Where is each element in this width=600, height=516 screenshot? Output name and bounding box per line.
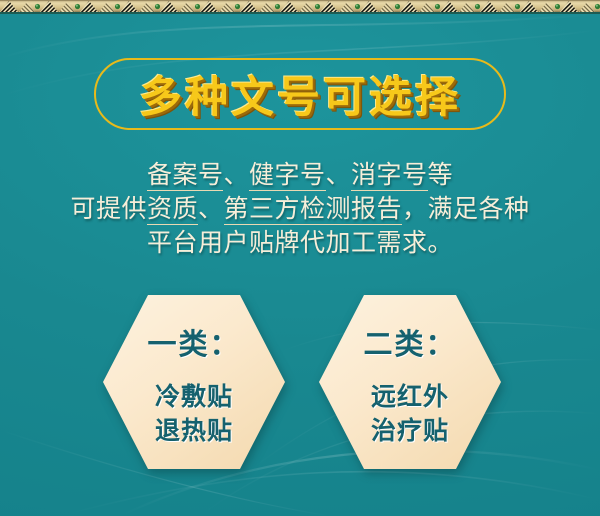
category-hexagon-one: 一类： 冷敷贴 退热贴: [102, 293, 286, 471]
ornamental-top-border: [0, 0, 600, 14]
page-title: 多种文号可选择: [96, 63, 504, 125]
plain-text: 、: [223, 160, 249, 189]
category-two-item-2: 治疗贴: [318, 411, 502, 447]
category-one-item-2: 退热贴: [102, 411, 286, 447]
description-line: 备案号、健字号、消字号等: [30, 158, 570, 192]
category-one-title: 一类：: [102, 321, 286, 363]
plain-text: 可提供: [70, 194, 147, 223]
plain-text: ，满足各种: [402, 194, 530, 223]
description-line: 可提供资质、第三方检测报告，满足各种: [30, 192, 570, 226]
headline-frame: 多种文号可选择: [94, 58, 506, 130]
highlighted-term: 备案号: [147, 160, 224, 191]
border-underline: [0, 12, 600, 14]
highlighted-term: 健字号: [249, 160, 326, 191]
plain-text: 等: [428, 160, 454, 189]
category-hexagon-two: 二类： 远红外 治疗贴: [318, 293, 502, 471]
promo-poster: 多种文号可选择 备案号、健字号、消字号等可提供资质、第三方检测报告，满足各种平台…: [0, 0, 600, 516]
highlighted-term: 资质: [147, 194, 198, 225]
highlighted-term: 消字号: [351, 160, 428, 191]
highlighted-term: 第三方检测报告: [224, 194, 403, 225]
plain-text: 平台用户贴牌代加工需求。: [147, 228, 453, 257]
description-paragraph: 备案号、健字号、消字号等可提供资质、第三方检测报告，满足各种平台用户贴牌代加工需…: [30, 158, 570, 260]
category-two-title: 二类：: [318, 321, 502, 363]
plain-text: 、: [326, 160, 352, 189]
category-two-item-1: 远红外: [318, 377, 502, 413]
plain-text: 、: [198, 194, 224, 223]
category-one-item-1: 冷敷贴: [102, 377, 286, 413]
description-line: 平台用户贴牌代加工需求。: [30, 226, 570, 260]
